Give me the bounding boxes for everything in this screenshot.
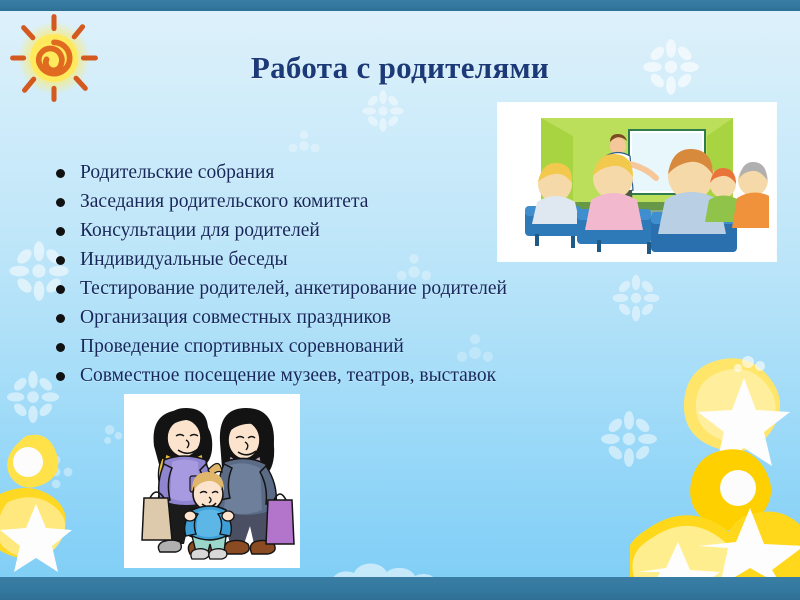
list-item-label: Консультации для родителей [80, 220, 320, 241]
bullet-dot-icon [56, 314, 65, 323]
parent-meeting-photo [498, 103, 776, 261]
star-cluster-decoration [0, 426, 108, 586]
bottom-border-band [0, 577, 800, 600]
list-item-label: Организация совместных праздников [80, 307, 391, 328]
list-item-label: Индивидуальные беседы [80, 249, 288, 270]
list-item: Проведение спортивных соревнований [52, 332, 692, 361]
bullet-dot-icon [56, 285, 65, 294]
star-cluster-decoration [630, 356, 800, 586]
bullet-dot-icon [56, 169, 65, 178]
list-item-label: Тестирование родителей, анкетирование ро… [80, 278, 507, 299]
top-border-band [0, 0, 800, 11]
bullet-dot-icon [56, 227, 65, 236]
page-title: Работа с родителями [0, 50, 800, 86]
family-photo [124, 394, 300, 568]
list-item-label: Родительские собрания [80, 162, 274, 183]
bullet-dot-icon [56, 256, 65, 265]
list-item-label: Проведение спортивных соревнований [80, 336, 404, 357]
list-item: Организация совместных праздников [52, 303, 692, 332]
bullet-dot-icon [56, 372, 65, 381]
snowflake-icon [360, 88, 406, 134]
bullet-dot-icon [56, 343, 65, 352]
list-item: Тестирование родителей, анкетирование ро… [52, 274, 692, 303]
list-item-label: Совместное посещение музеев, театров, вы… [80, 365, 496, 386]
bullet-dot-icon [56, 198, 65, 207]
slide-canvas: Работа с родителями Родительские собрани… [0, 0, 800, 600]
list-item-label: Заседания родительского комитета [80, 191, 368, 212]
list-item: Совместное посещение музеев, театров, вы… [52, 361, 692, 390]
